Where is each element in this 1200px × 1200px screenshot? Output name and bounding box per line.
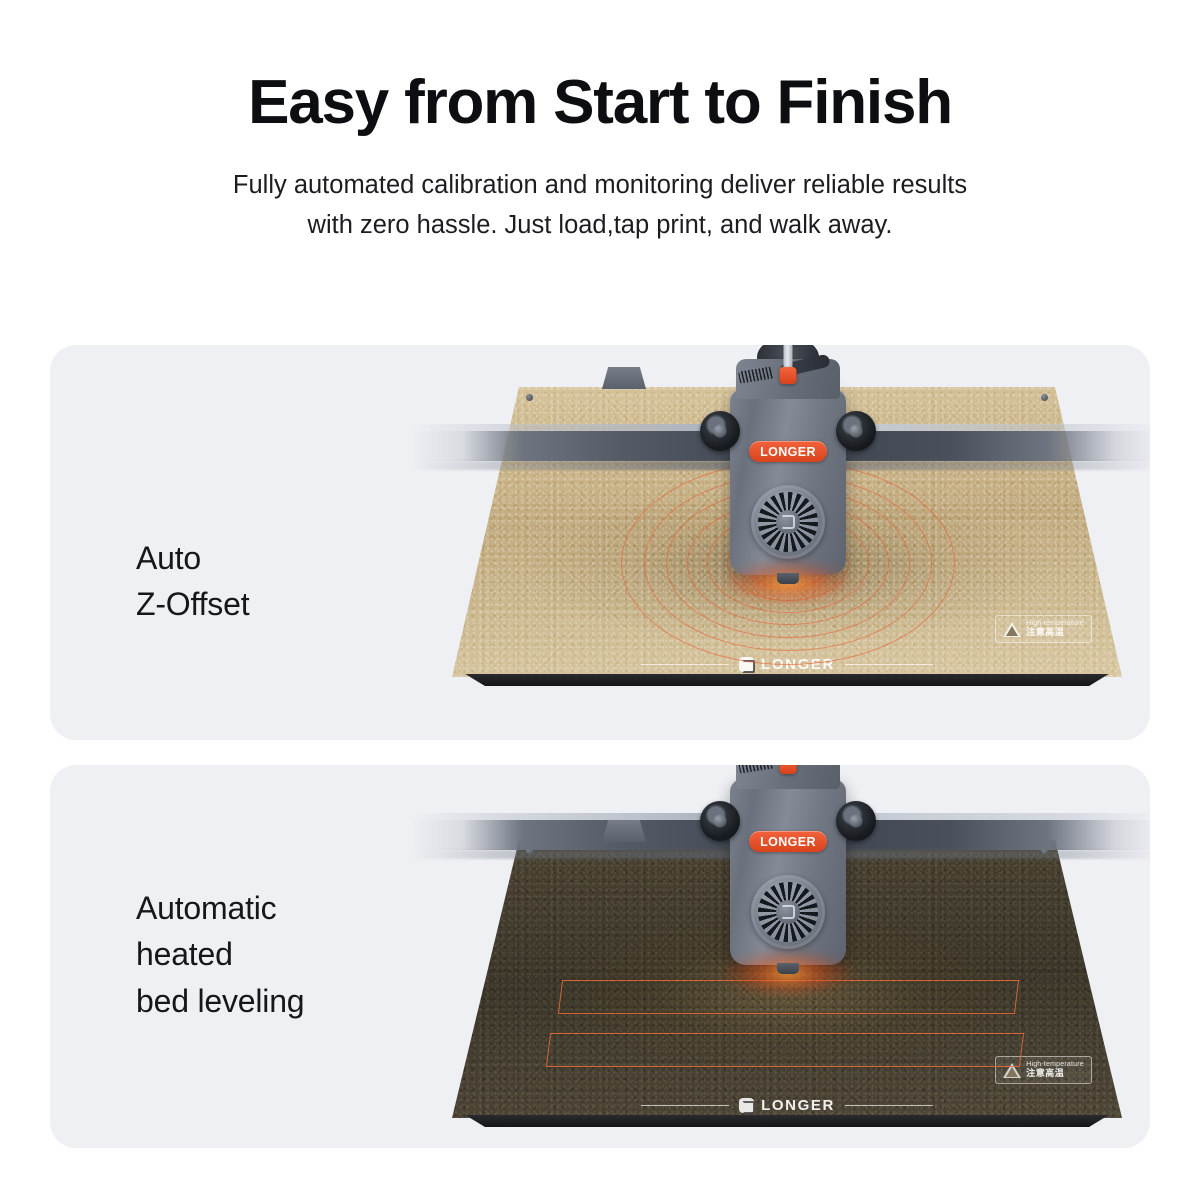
feature-label-auto-z-offset: Auto Z-Offset: [136, 535, 249, 628]
print-head-body: LONGER: [730, 389, 846, 575]
print-head-brand-badge: LONGER: [749, 831, 827, 852]
fan-icon: [751, 875, 825, 949]
build-plate-front-strip: LONGER: [479, 651, 1095, 677]
nozzle: [777, 573, 799, 584]
print-head-brand-text: LONGER: [760, 835, 816, 849]
subtitle-line-2: with zero hassle. Just load,tap print, a…: [100, 206, 1100, 246]
high-temperature-warning-label: High-temperature 注意高温: [995, 615, 1092, 643]
page-title: Easy from Start to Finish: [0, 72, 1200, 134]
fan-icon: [751, 485, 825, 559]
print-head-auto-bed-leveling: LONGER: [730, 779, 846, 965]
divider-line: [641, 1105, 729, 1106]
feature-card-auto-bed-leveling[interactable]: Automatic heated bed leveling High-tempe…: [50, 765, 1150, 1148]
plate-brand-text: LONGER: [761, 656, 835, 673]
roller-wheel-left: [700, 411, 740, 451]
roller-wheel-right: [836, 411, 876, 451]
subtitle-line-1: Fully automated calibration and monitori…: [100, 166, 1100, 206]
page-subtitle: Fully automated calibration and monitori…: [100, 166, 1100, 245]
filament-collar: [780, 367, 797, 384]
fan-hub-logo-icon: [776, 510, 800, 534]
fan-hub-logo-icon: [776, 900, 800, 924]
warning-triangle-icon: [1003, 622, 1021, 637]
longer-logo-icon: [739, 1098, 754, 1113]
leveling-scan-path: [546, 1033, 1024, 1067]
print-head-brand-badge: LONGER: [749, 441, 827, 462]
warning-text-cn: 注意高温: [1026, 1069, 1084, 1079]
feature-label-auto-bed-leveling: Automatic heated bed leveling: [136, 885, 304, 1024]
plate-brand: LONGER: [739, 656, 835, 673]
divider-line: [845, 664, 933, 665]
print-head-auto-z-offset: LONGER: [730, 389, 846, 575]
build-plate-front-strip: LONGER: [479, 1092, 1095, 1118]
promo-page: Easy from Start to Finish Fully automate…: [0, 0, 1200, 1200]
roller-wheel-right: [836, 801, 876, 841]
print-head-brand-text: LONGER: [760, 445, 816, 459]
plate-back-clip: [602, 367, 646, 389]
plate-screw: [526, 394, 533, 401]
longer-logo-icon: [739, 657, 754, 672]
divider-line: [845, 1105, 933, 1106]
roller-wheel-left: [700, 801, 740, 841]
divider-line: [641, 664, 729, 665]
plate-brand-text: LONGER: [761, 1097, 835, 1114]
feature-card-auto-z-offset[interactable]: Auto Z-Offset High-temperature 注意高温: [50, 345, 1150, 740]
print-head-body: LONGER: [730, 779, 846, 965]
plate-back-clip: [602, 820, 646, 842]
nozzle: [777, 963, 799, 974]
filament-collar: [780, 765, 797, 774]
printer-illustration-auto-z-offset: High-temperature 注意高温 LONGER: [430, 345, 1150, 740]
warning-text-cn: 注意高温: [1026, 628, 1084, 638]
printer-illustration-auto-bed-leveling: High-temperature 注意高温 LONGER: [430, 765, 1150, 1148]
header: Easy from Start to Finish Fully automate…: [0, 0, 1200, 245]
plate-brand: LONGER: [739, 1097, 835, 1114]
